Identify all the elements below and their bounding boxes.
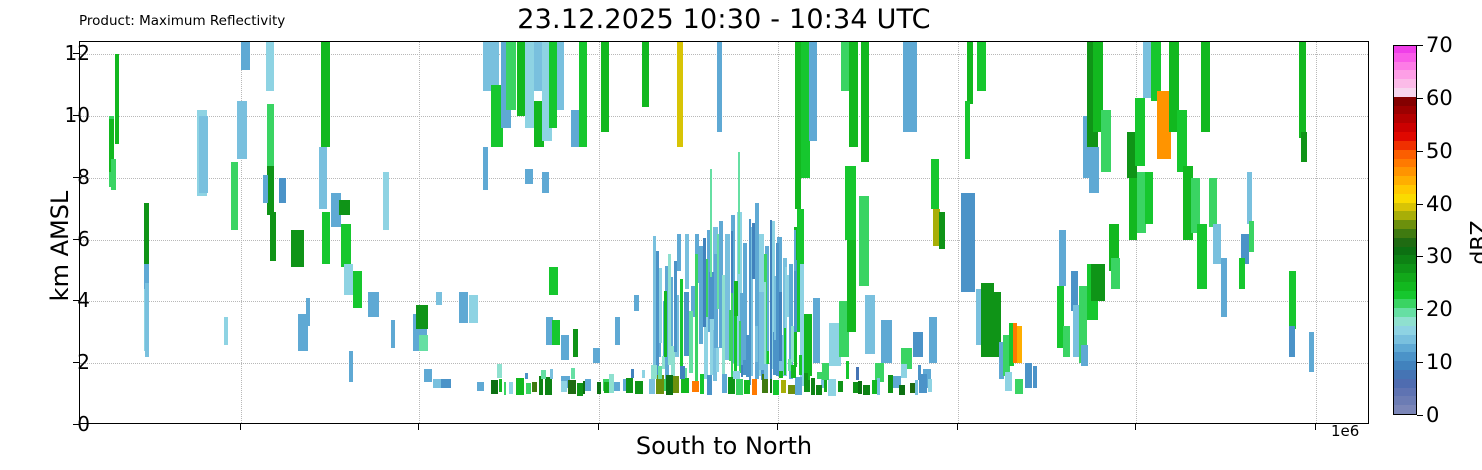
colorbar-segment bbox=[1394, 140, 1416, 149]
reflectivity-bar bbox=[717, 42, 722, 132]
colorbar-segment bbox=[1394, 405, 1416, 414]
x-axis-label: South to North bbox=[79, 432, 1369, 460]
reflectivity-bar bbox=[872, 380, 877, 394]
y-tick-mark bbox=[73, 115, 79, 116]
reflectivity-bar bbox=[659, 268, 662, 343]
reflectivity-bar bbox=[861, 42, 869, 162]
x-tick-mark bbox=[1315, 424, 1316, 430]
reflectivity-bar bbox=[838, 381, 844, 393]
reflectivity-bar bbox=[710, 169, 712, 277]
reflectivity-bar bbox=[649, 379, 655, 394]
colorbar-segment bbox=[1394, 290, 1416, 299]
colorbar-segment bbox=[1394, 149, 1416, 158]
reflectivity-bar bbox=[939, 212, 945, 249]
colorbar-segment bbox=[1394, 167, 1416, 176]
reflectivity-bar bbox=[383, 172, 389, 231]
reflectivity-bar bbox=[677, 42, 683, 147]
colorbar-segment bbox=[1394, 45, 1416, 53]
reflectivity-bar bbox=[689, 311, 693, 372]
reflectivity-bar bbox=[469, 295, 478, 323]
colorbar-segment bbox=[1394, 176, 1416, 185]
reflectivity-bar bbox=[733, 371, 740, 379]
reflectivity-bar bbox=[1145, 172, 1153, 225]
reflectivity-bar bbox=[888, 375, 893, 393]
reflectivity-bar bbox=[749, 219, 751, 386]
reflectivity-bar bbox=[877, 378, 879, 395]
reflectivity-bar bbox=[700, 374, 704, 393]
reflectivity-bar bbox=[764, 282, 766, 376]
colorbar-segment bbox=[1394, 202, 1416, 211]
colorbar-tick-label: 0 bbox=[1426, 403, 1439, 427]
reflectivity-bar bbox=[1289, 326, 1295, 357]
reflectivity-bar bbox=[849, 42, 858, 147]
page-title: 23.12.2025 10:30 - 10:34 UTC bbox=[79, 4, 1369, 35]
reflectivity-bar bbox=[441, 379, 451, 388]
reflectivity-bar bbox=[416, 305, 428, 330]
reflectivity-bar bbox=[571, 368, 575, 379]
reflectivity-bar bbox=[1025, 363, 1032, 388]
reflectivity-bar bbox=[767, 351, 769, 363]
colorbar-segment bbox=[1394, 343, 1416, 352]
reflectivity-bar bbox=[1201, 42, 1210, 132]
reflectivity-bar bbox=[433, 379, 441, 388]
reflectivity-bar bbox=[424, 369, 432, 381]
reflectivity-bar bbox=[722, 275, 725, 381]
colorbar-segment bbox=[1394, 193, 1416, 202]
reflectivity-bar bbox=[1239, 258, 1245, 289]
reflectivity-bar bbox=[808, 365, 811, 379]
x-axis-offset-text: 1e6 bbox=[1331, 422, 1359, 440]
colorbar-tick-mark bbox=[1417, 309, 1423, 310]
reflectivity-bar bbox=[1209, 178, 1217, 227]
colorbar-tick-mark bbox=[1417, 415, 1423, 416]
x-tick-mark bbox=[418, 424, 419, 430]
y-tick-mark bbox=[73, 362, 79, 363]
reflectivity-bar bbox=[811, 378, 815, 395]
colorbar-segment bbox=[1394, 70, 1416, 79]
reflectivity-bar bbox=[1213, 224, 1221, 264]
reflectivity-bar bbox=[499, 379, 502, 392]
reflectivity-bar bbox=[918, 365, 921, 380]
reflectivity-bar bbox=[525, 42, 534, 128]
colorbar-segment bbox=[1394, 228, 1416, 237]
reflectivity-bar bbox=[267, 104, 274, 166]
reflectivity-bar bbox=[626, 378, 633, 394]
y-tick-label: 4 bbox=[77, 288, 90, 312]
reflectivity-bar bbox=[755, 326, 758, 363]
colorbar-segment bbox=[1394, 387, 1416, 396]
reflectivity-bar bbox=[738, 152, 740, 274]
reflectivity-bar bbox=[525, 169, 533, 184]
reflectivity-bar bbox=[752, 379, 757, 395]
reflectivity-bar bbox=[666, 375, 673, 395]
y-axis-label: km AMSL bbox=[46, 156, 74, 336]
reflectivity-bar bbox=[541, 370, 546, 380]
colorbar-tick-mark bbox=[1417, 45, 1423, 46]
reflectivity-bar bbox=[1143, 42, 1151, 98]
reflectivity-bar bbox=[349, 351, 353, 382]
reflectivity-bar bbox=[899, 385, 904, 395]
reflectivity-data bbox=[80, 42, 1368, 423]
reflectivity-bar bbox=[1197, 224, 1207, 289]
reflectivity-bar bbox=[781, 380, 786, 393]
reflectivity-bar bbox=[729, 310, 733, 361]
reflectivity-bar bbox=[504, 382, 506, 395]
x-tick-mark bbox=[777, 424, 778, 430]
radar-figure: Product: Maximum Reflectivity 23.12.2025… bbox=[0, 0, 1482, 470]
reflectivity-bar bbox=[561, 335, 569, 360]
y-tick-mark bbox=[73, 53, 79, 54]
reflectivity-bar bbox=[736, 379, 744, 395]
reflectivity-bar bbox=[828, 379, 836, 396]
reflectivity-bar bbox=[863, 385, 870, 395]
reflectivity-bar bbox=[673, 376, 679, 392]
reflectivity-bar bbox=[266, 42, 274, 91]
reflectivity-bar bbox=[263, 175, 268, 203]
plot-area bbox=[79, 41, 1369, 424]
reflectivity-bar bbox=[1059, 230, 1066, 286]
reflectivity-bar bbox=[341, 224, 351, 267]
reflectivity-bar bbox=[977, 42, 986, 91]
colorbar-tick-mark bbox=[1417, 362, 1423, 363]
colorbar-segment bbox=[1394, 105, 1416, 114]
reflectivity-bar bbox=[231, 162, 238, 230]
reflectivity-bar bbox=[799, 355, 802, 376]
colorbar-tick-label: 30 bbox=[1426, 244, 1453, 268]
reflectivity-bar bbox=[1309, 332, 1314, 372]
reflectivity-bar bbox=[573, 329, 578, 357]
reflectivity-bar bbox=[1177, 110, 1187, 172]
reflectivity-bar bbox=[497, 364, 502, 377]
reflectivity-bar bbox=[279, 178, 286, 203]
reflectivity-bar bbox=[717, 234, 719, 310]
colorbar-tick-label: 50 bbox=[1426, 139, 1453, 163]
reflectivity-bar bbox=[319, 147, 327, 209]
colorbar-tick-label: 10 bbox=[1426, 350, 1453, 374]
y-tick-label: 8 bbox=[77, 165, 90, 189]
reflectivity-bar bbox=[677, 234, 681, 271]
reflectivity-bar bbox=[967, 42, 973, 104]
reflectivity-bar bbox=[664, 291, 667, 357]
reflectivity-bar bbox=[604, 382, 609, 393]
colorbar-segment bbox=[1394, 123, 1416, 132]
reflectivity-bar bbox=[1063, 326, 1070, 357]
reflectivity-bar bbox=[339, 200, 350, 215]
reflectivity-bar bbox=[795, 377, 802, 395]
reflectivity-bar bbox=[744, 380, 750, 394]
colorbar-segment bbox=[1394, 361, 1416, 370]
colorbar-segment bbox=[1394, 96, 1416, 105]
colorbar-tick-mark bbox=[1417, 256, 1423, 257]
reflectivity-bar bbox=[692, 381, 699, 392]
reflectivity-bar bbox=[931, 159, 939, 208]
x-tick-mark bbox=[598, 424, 599, 430]
colorbar-tick-label: 60 bbox=[1426, 86, 1453, 110]
reflectivity-bar bbox=[681, 378, 689, 393]
reflectivity-bar bbox=[865, 295, 875, 354]
colorbar-segment bbox=[1394, 87, 1416, 96]
reflectivity-bar bbox=[716, 347, 719, 372]
colorbar-segment bbox=[1394, 132, 1416, 141]
reflectivity-bar bbox=[1221, 258, 1227, 317]
reflectivity-bar bbox=[306, 298, 310, 326]
reflectivity-bar bbox=[597, 382, 601, 395]
reflectivity-bar bbox=[791, 365, 796, 378]
colorbar-segment bbox=[1394, 114, 1416, 123]
reflectivity-bar bbox=[241, 42, 250, 70]
reflectivity-bar bbox=[1111, 258, 1120, 289]
reflectivity-bar bbox=[913, 332, 923, 357]
reflectivity-bar bbox=[224, 317, 228, 345]
x-tick-mark bbox=[957, 424, 958, 430]
reflectivity-bar bbox=[770, 379, 773, 393]
colorbar bbox=[1393, 45, 1417, 415]
reflectivity-bar bbox=[903, 42, 917, 132]
reflectivity-bar bbox=[561, 381, 568, 392]
reflectivity-bar bbox=[549, 42, 557, 128]
reflectivity-bar bbox=[1301, 132, 1307, 163]
colorbar-segment bbox=[1394, 369, 1416, 378]
reflectivity-bar bbox=[344, 264, 353, 295]
reflectivity-bar bbox=[680, 279, 683, 372]
reflectivity-bar bbox=[910, 383, 914, 394]
reflectivity-bar bbox=[1033, 366, 1037, 388]
reflectivity-bar bbox=[1289, 271, 1296, 330]
colorbar-segment bbox=[1394, 264, 1416, 273]
reflectivity-bar bbox=[577, 383, 582, 395]
reflectivity-bar bbox=[674, 261, 677, 351]
colorbar-tick-label: 40 bbox=[1426, 192, 1453, 216]
reflectivity-bar bbox=[822, 363, 829, 380]
reflectivity-bar bbox=[593, 348, 600, 363]
reflectivity-bar bbox=[846, 361, 850, 379]
reflectivity-bar bbox=[631, 369, 634, 378]
reflectivity-bar bbox=[144, 203, 149, 265]
colorbar-segment bbox=[1394, 334, 1416, 343]
reflectivity-bar bbox=[552, 320, 560, 345]
reflectivity-bar bbox=[642, 42, 649, 107]
colorbar-label: dBZ bbox=[1468, 163, 1482, 323]
x-tick-mark bbox=[240, 424, 241, 430]
reflectivity-bar bbox=[651, 365, 657, 379]
colorbar-segment bbox=[1394, 220, 1416, 229]
colorbar-segment bbox=[1394, 378, 1416, 387]
reflectivity-bar bbox=[658, 366, 662, 378]
reflectivity-bar bbox=[353, 271, 362, 308]
reflectivity-bar bbox=[321, 42, 330, 147]
reflectivity-bar bbox=[368, 292, 379, 317]
reflectivity-bar bbox=[583, 381, 585, 394]
colorbar-tick-mark bbox=[1417, 204, 1423, 205]
reflectivity-bar bbox=[545, 377, 551, 395]
reflectivity-bar bbox=[779, 292, 782, 361]
reflectivity-bar bbox=[773, 380, 779, 394]
reflectivity-bar bbox=[557, 42, 564, 110]
reflectivity-bar bbox=[695, 254, 698, 382]
colorbar-tick-mark bbox=[1417, 151, 1423, 152]
reflectivity-bar bbox=[525, 373, 528, 380]
reflectivity-bar bbox=[115, 54, 119, 144]
reflectivity-bar bbox=[237, 101, 247, 160]
reflectivity-bar bbox=[615, 317, 620, 345]
reflectivity-bar bbox=[526, 383, 531, 395]
reflectivity-bar bbox=[1249, 221, 1254, 252]
reflectivity-bar bbox=[270, 212, 276, 261]
reflectivity-bar bbox=[542, 172, 549, 194]
reflectivity-bar bbox=[568, 380, 576, 393]
reflectivity-bar bbox=[685, 234, 689, 290]
colorbar-segment bbox=[1394, 79, 1416, 88]
colorbar-segment bbox=[1394, 352, 1416, 361]
reflectivity-bar bbox=[788, 385, 795, 394]
colorbar-segment bbox=[1394, 281, 1416, 290]
colorbar-segment bbox=[1394, 299, 1416, 308]
reflectivity-bar bbox=[436, 292, 442, 304]
reflectivity-bar bbox=[961, 193, 975, 292]
reflectivity-bar bbox=[741, 365, 743, 377]
colorbar-segment bbox=[1394, 255, 1416, 264]
reflectivity-bar bbox=[506, 42, 516, 110]
colorbar-tick-label: 70 bbox=[1426, 33, 1453, 57]
reflectivity-bar bbox=[1101, 110, 1111, 172]
reflectivity-bar bbox=[764, 364, 768, 379]
reflectivity-bar bbox=[267, 166, 274, 215]
colorbar-segment bbox=[1394, 184, 1416, 193]
reflectivity-bar bbox=[145, 283, 149, 357]
reflectivity-bar bbox=[483, 147, 488, 190]
colorbar-segment bbox=[1394, 317, 1416, 326]
reflectivity-bar bbox=[928, 379, 932, 392]
reflectivity-bar bbox=[929, 317, 937, 363]
reflectivity-bar bbox=[550, 369, 554, 379]
reflectivity-bar bbox=[509, 382, 513, 394]
y-tick-label: 6 bbox=[77, 227, 90, 251]
reflectivity-bar bbox=[609, 374, 613, 393]
reflectivity-bar bbox=[1081, 345, 1088, 367]
reflectivity-bar bbox=[779, 371, 783, 378]
reflectivity-bar bbox=[491, 380, 498, 393]
reflectivity-bar bbox=[585, 379, 591, 391]
reflectivity-bar bbox=[965, 101, 970, 160]
colorbar-tick-mark bbox=[1417, 98, 1423, 99]
reflectivity-bar bbox=[549, 267, 558, 295]
reflectivity-bar bbox=[534, 42, 542, 91]
reflectivity-bar bbox=[642, 370, 646, 379]
colorbar-segment bbox=[1394, 308, 1416, 317]
reflectivity-bar bbox=[1005, 372, 1012, 391]
colorbar-segment bbox=[1394, 246, 1416, 255]
colorbar-segment bbox=[1394, 52, 1416, 61]
colorbar-segment bbox=[1394, 158, 1416, 167]
reflectivity-bar bbox=[847, 240, 856, 333]
colorbar-segment bbox=[1394, 237, 1416, 246]
reflectivity-bar bbox=[1129, 178, 1137, 240]
reflectivity-bar bbox=[601, 42, 609, 132]
reflectivity-bar bbox=[1015, 379, 1023, 394]
y-tick-label: 2 bbox=[77, 350, 90, 374]
reflectivity-bar bbox=[634, 295, 639, 310]
reflectivity-bar bbox=[1135, 98, 1145, 166]
reflectivity-bar bbox=[1017, 326, 1022, 363]
reflectivity-bar bbox=[516, 378, 523, 395]
reflectivity-bar bbox=[734, 281, 738, 316]
reflectivity-bar bbox=[459, 292, 468, 323]
reflectivity-bar bbox=[680, 366, 684, 379]
reflectivity-bar bbox=[1247, 172, 1252, 225]
reflectivity-bar bbox=[728, 377, 735, 394]
reflectivity-bar bbox=[477, 382, 484, 391]
reflectivity-bar bbox=[774, 276, 776, 340]
reflectivity-bar bbox=[483, 42, 499, 91]
reflectivity-bar bbox=[391, 320, 395, 348]
reflectivity-bar bbox=[532, 382, 537, 392]
colorbar-segment bbox=[1394, 211, 1416, 220]
reflectivity-bar bbox=[858, 381, 862, 394]
x-tick-mark bbox=[1135, 424, 1136, 430]
colorbar-segment bbox=[1394, 61, 1416, 70]
reflectivity-bar bbox=[703, 238, 706, 327]
reflectivity-bar bbox=[322, 212, 330, 265]
reflectivity-bar bbox=[731, 231, 733, 292]
colorbar-segment bbox=[1394, 396, 1416, 405]
reflectivity-bar bbox=[1089, 147, 1099, 193]
reflectivity-bar bbox=[794, 230, 796, 271]
reflectivity-bar bbox=[722, 374, 727, 392]
reflectivity-bar bbox=[1299, 42, 1306, 138]
reflectivity-bar bbox=[291, 230, 304, 267]
reflectivity-bar bbox=[579, 42, 587, 147]
reflectivity-bar bbox=[199, 116, 208, 193]
reflectivity-bar bbox=[752, 223, 755, 280]
colorbar-segment bbox=[1394, 325, 1416, 334]
reflectivity-bar bbox=[816, 385, 821, 394]
reflectivity-bar bbox=[809, 42, 817, 141]
reflectivity-bar bbox=[813, 298, 820, 363]
reflectivity-bar bbox=[901, 364, 907, 378]
reflectivity-bar bbox=[111, 159, 116, 190]
colorbar-segment bbox=[1394, 272, 1416, 281]
reflectivity-bar bbox=[707, 375, 712, 395]
reflectivity-bar bbox=[856, 367, 859, 380]
reflectivity-bar bbox=[419, 335, 428, 350]
reflectivity-bar bbox=[845, 166, 856, 240]
reflectivity-bar bbox=[635, 381, 643, 394]
reflectivity-bar bbox=[841, 42, 849, 91]
reflectivity-bar bbox=[1091, 264, 1105, 301]
reflectivity-bar bbox=[787, 275, 789, 317]
reflectivity-bar bbox=[881, 320, 892, 363]
reflectivity-bar bbox=[859, 196, 869, 286]
y-tick-mark bbox=[73, 424, 79, 425]
reflectivity-bar bbox=[784, 328, 786, 375]
colorbar-tick-label: 20 bbox=[1426, 297, 1453, 321]
